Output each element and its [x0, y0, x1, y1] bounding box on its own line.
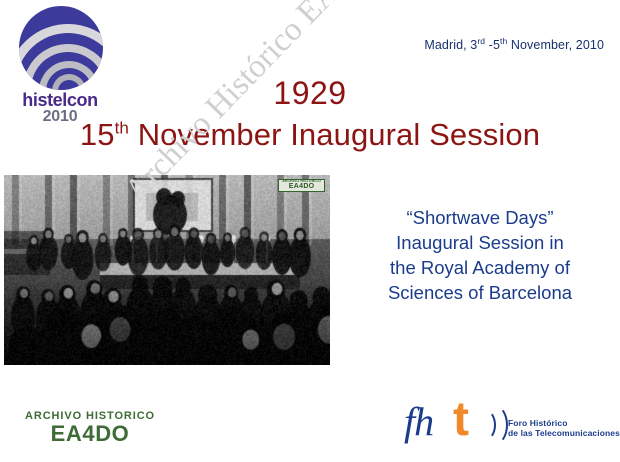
photo-archive-badge: ARCHIVO HISTORICO EA4DO: [278, 179, 325, 192]
photo-badge-main: EA4DO: [282, 183, 321, 190]
year-title: 1929: [0, 75, 620, 112]
session-title: 15th November Inaugural Session: [0, 117, 620, 153]
session-title-suffix: November Inaugural Session: [129, 117, 540, 152]
fht-logo-text: Foro Histórico de las Telecomunicaciones: [508, 418, 620, 438]
fht-logo-t: t: [453, 396, 469, 444]
caption-line-4: Sciences of Barcelona: [352, 280, 608, 305]
fht-logo-line-2: de las Telecomunicaciones: [508, 428, 620, 438]
session-title-ordinal: th: [115, 119, 129, 138]
caption-line-3: the Royal Academy of: [352, 255, 608, 280]
event-date-suffix: November, 2010: [507, 38, 604, 52]
archivo-historico-logo: ARCHIVO HISTORICO EA4DO: [10, 410, 170, 446]
fht-logo-line-1: Foro Histórico: [508, 418, 620, 428]
session-title-prefix: 15: [80, 117, 115, 152]
fht-logo: fh t Foro Histórico de las Telecomunicac…: [404, 398, 612, 454]
fht-logo-fh: fh: [404, 402, 433, 442]
presentation-slide: histelcon 2010 Madrid, 3rd -5th November…: [0, 0, 620, 462]
signal-arcs-icon: [480, 404, 504, 444]
event-date-middle: -5: [485, 38, 500, 52]
session-caption: “Shortwave Days” Inaugural Session in th…: [352, 205, 608, 305]
caption-line-2: Inaugural Session in: [352, 230, 608, 255]
event-date-prefix: Madrid, 3: [424, 38, 477, 52]
caption-line-1: “Shortwave Days”: [352, 205, 608, 230]
event-date-ordinal-first: rd: [477, 36, 485, 46]
archive-logo-callsign: EA4DO: [10, 422, 170, 446]
photograph-canvas: [4, 175, 330, 365]
event-date: Madrid, 3rd -5th November, 2010: [424, 36, 604, 52]
historical-session-photograph: ARCHIVO HISTORICO EA4DO: [4, 175, 330, 365]
